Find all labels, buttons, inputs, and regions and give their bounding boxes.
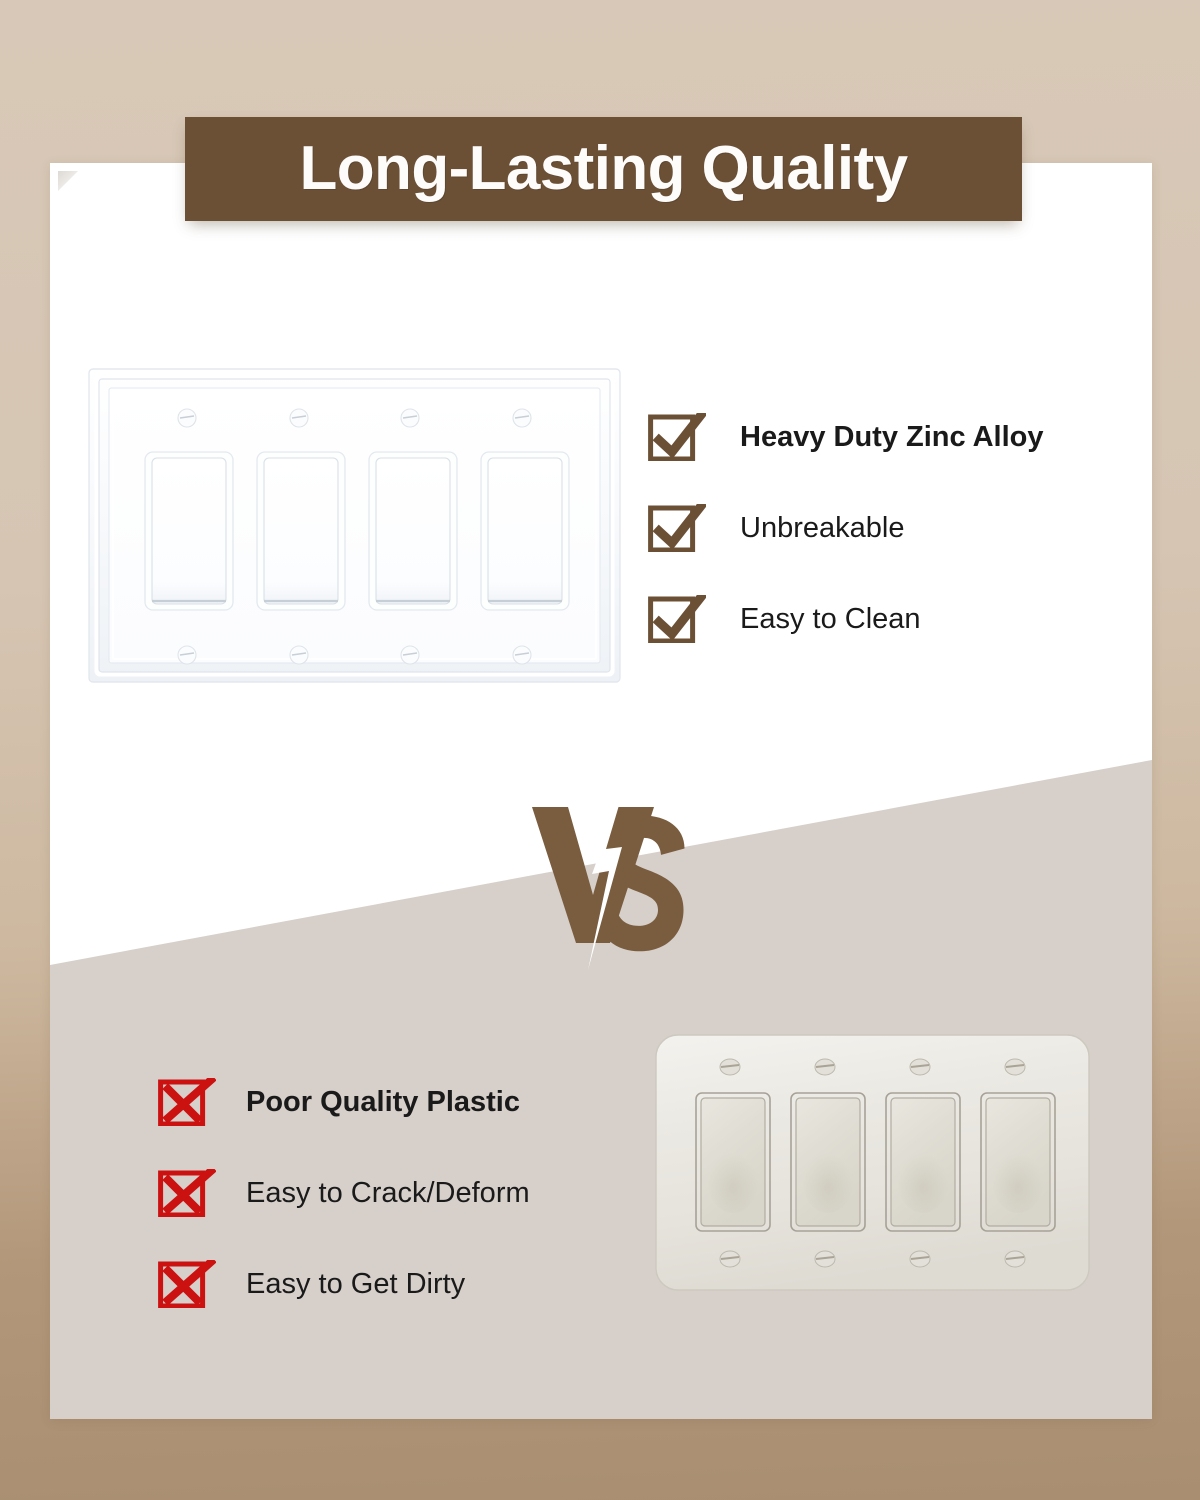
- yellowed-plastic-wall-plate-illustration: [655, 1034, 1090, 1291]
- rocker-switch: [791, 1093, 865, 1231]
- screw-icon: [178, 646, 196, 664]
- screw-icon: [178, 409, 196, 427]
- screw-icon: [815, 1251, 835, 1267]
- rocker-switch: [145, 452, 233, 610]
- bad-feature-list: Poor Quality Plastic Easy to Crack/Defor…: [158, 1078, 638, 1308]
- page-title: Long-Lasting Quality: [300, 138, 908, 200]
- screw-icon: [720, 1251, 740, 1267]
- x-box-icon: [158, 1260, 216, 1308]
- screw-icon: [401, 646, 419, 664]
- check-box-icon: [648, 413, 706, 461]
- rocker-switch: [257, 452, 345, 610]
- screw-icon: [1005, 1251, 1025, 1267]
- vs-lightning-icon: [510, 775, 700, 970]
- rocker-switch: [696, 1093, 770, 1231]
- screw-icon: [401, 409, 419, 427]
- screw-icon: [513, 646, 531, 664]
- page-fold-corner-icon: [58, 171, 80, 193]
- rocker-switch: [886, 1093, 960, 1231]
- bad-feature-label: Poor Quality Plastic: [246, 1088, 520, 1117]
- screw-icon: [910, 1251, 930, 1267]
- good-product-image: [88, 368, 621, 683]
- good-feature-label: Unbreakable: [740, 514, 904, 543]
- rocker-switch: [481, 452, 569, 610]
- screw-icon: [1005, 1059, 1025, 1075]
- rocker-switch: [369, 452, 457, 610]
- screw-icon: [290, 409, 308, 427]
- x-box-icon: [158, 1078, 216, 1126]
- comparison-card: Heavy Duty Zinc Alloy Unbreakable Easy t…: [50, 163, 1152, 1419]
- good-feature-item: Unbreakable: [648, 504, 1128, 552]
- good-feature-label: Heavy Duty Zinc Alloy: [740, 423, 1044, 452]
- bad-feature-item: Easy to Get Dirty: [158, 1260, 638, 1308]
- screw-icon: [910, 1059, 930, 1075]
- x-box-icon: [158, 1169, 216, 1217]
- good-feature-label: Easy to Clean: [740, 605, 921, 634]
- screw-icon: [290, 646, 308, 664]
- check-box-icon: [648, 504, 706, 552]
- bad-product-image: [655, 1034, 1090, 1291]
- screw-icon: [720, 1059, 740, 1075]
- bad-feature-item: Easy to Crack/Deform: [158, 1169, 638, 1217]
- check-box-icon: [648, 595, 706, 643]
- title-banner: Long-Lasting Quality: [185, 117, 1022, 221]
- screw-icon: [513, 409, 531, 427]
- vs-badge: [510, 775, 700, 970]
- rocker-switch: [981, 1093, 1055, 1231]
- good-feature-item: Heavy Duty Zinc Alloy: [648, 413, 1128, 461]
- bad-feature-label: Easy to Crack/Deform: [246, 1179, 530, 1208]
- white-wall-plate-illustration: [88, 368, 621, 683]
- bad-feature-label: Easy to Get Dirty: [246, 1270, 465, 1299]
- good-feature-list: Heavy Duty Zinc Alloy Unbreakable Easy t…: [648, 413, 1128, 643]
- good-feature-item: Easy to Clean: [648, 595, 1128, 643]
- screw-icon: [815, 1059, 835, 1075]
- bad-feature-item: Poor Quality Plastic: [158, 1078, 638, 1126]
